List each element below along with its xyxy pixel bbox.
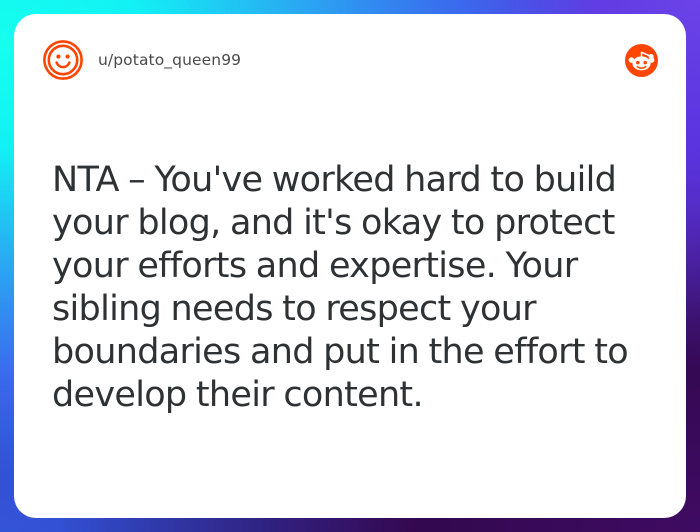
reddit-quote-card: u/potato_queen99 NTA – You've worked har… — [14, 14, 686, 518]
card-header: u/potato_queen99 — [14, 14, 686, 106]
username-label: u/potato_queen99 — [98, 51, 241, 69]
card-body: NTA – You've worked hard to build your b… — [52, 159, 648, 417]
quote-text: NTA – You've worked hard to build your b… — [52, 159, 648, 417]
reddit-snoo-logo-icon[interactable] — [625, 44, 658, 77]
screenshot-stage: u/potato_queen99 NTA – You've worked har… — [0, 0, 700, 532]
smiley-face-avatar-icon — [42, 39, 84, 81]
